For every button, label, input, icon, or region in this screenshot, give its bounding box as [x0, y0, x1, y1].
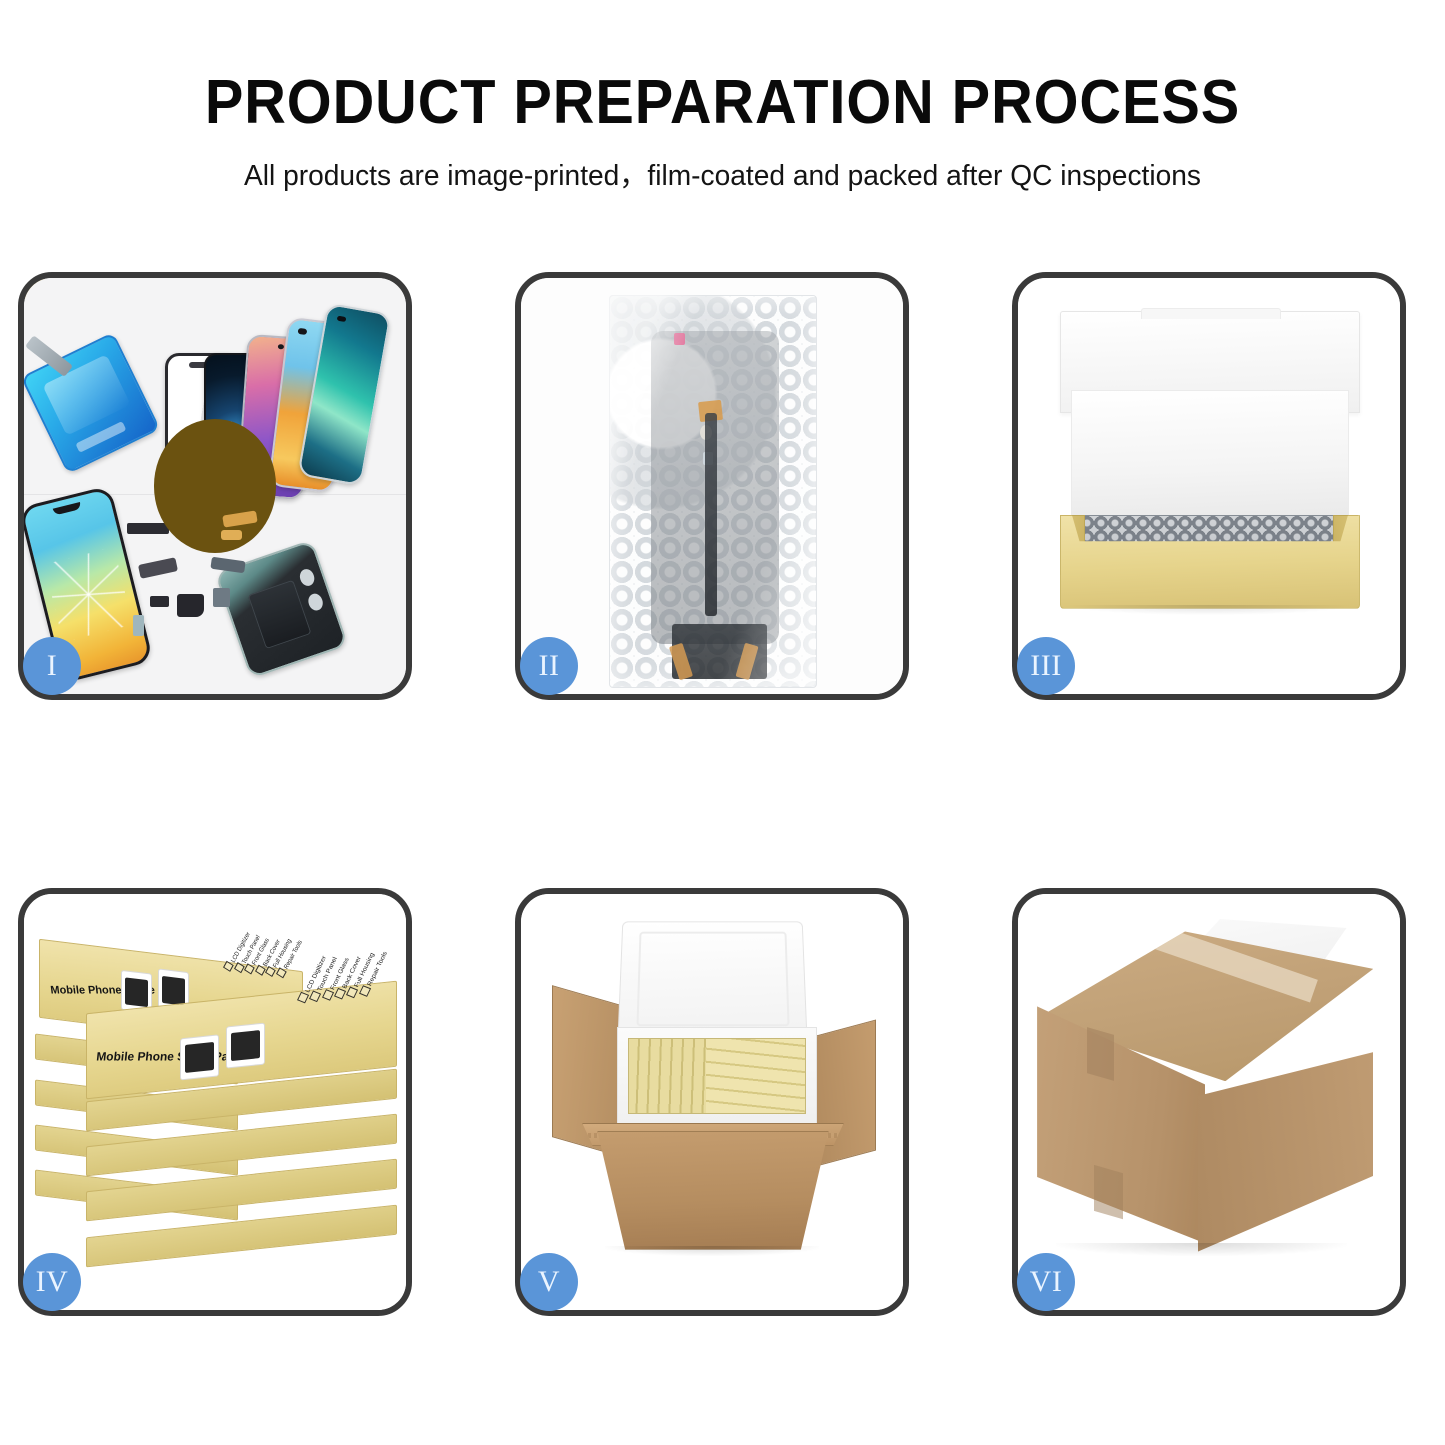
step-panel-6: VI	[1012, 888, 1406, 1316]
step-badge-2: II	[520, 637, 578, 695]
step-panel-3: III	[1012, 272, 1406, 700]
step-badge-4: IV	[23, 1253, 81, 1311]
bubble-wrap-sleeve	[609, 295, 817, 688]
sealed-carton-shadow	[1056, 1243, 1346, 1255]
step-badge-6: VI	[1017, 1253, 1075, 1311]
speaker-mesh-part	[127, 523, 169, 534]
retail-box-stack: Mobile Phone Spare Parts LCD Digitizer T…	[35, 927, 394, 1276]
step-badge-5: V	[520, 1253, 578, 1311]
step-panel-2: II	[515, 272, 909, 700]
foam-sheet-insert	[1071, 390, 1348, 521]
retail-box-brand-front: Mobile Phone Spare Parts	[96, 1049, 245, 1063]
gold-boxes-inside	[628, 1038, 806, 1115]
step-badge-3: III	[1017, 637, 1075, 695]
step-image-5	[521, 894, 903, 1310]
step-image-6	[1018, 894, 1400, 1310]
foam-cooler-lid	[618, 921, 808, 1038]
step-panel-4: Mobile Phone Spare Parts LCD Digitizer T…	[18, 888, 412, 1316]
flex-cable-part-2	[221, 530, 242, 541]
retail-box-screen-b2	[226, 1022, 265, 1068]
carton-drop-shadow	[605, 1246, 819, 1257]
small-component-1	[150, 596, 169, 607]
infographic-page: PRODUCT PREPARATION PROCESS All products…	[0, 0, 1445, 1445]
step-panel-5: V	[515, 888, 909, 1316]
pink-qc-sticker	[674, 333, 685, 346]
flex-cable-strip	[705, 413, 717, 616]
step-image-4: Mobile Phone Spare Parts LCD Digitizer T…	[24, 894, 406, 1310]
step-image-2	[521, 278, 903, 694]
mailer-drop-shadow	[1068, 605, 1351, 615]
sim-tray-part	[133, 615, 144, 636]
carton-seam-lower	[1094, 1164, 1123, 1218]
step-image-1	[24, 278, 406, 694]
earpiece-speaker-part	[177, 594, 204, 617]
step-panel-1: I	[18, 272, 412, 700]
step-image-3	[1018, 278, 1400, 694]
small-component-2	[213, 588, 230, 607]
step-badge-1: I	[23, 637, 81, 695]
retail-box-screen-b1	[179, 1034, 218, 1080]
carton-seam-upper	[1087, 1027, 1114, 1080]
process-grid: I II	[0, 0, 1445, 1445]
carton-body	[597, 1131, 828, 1249]
